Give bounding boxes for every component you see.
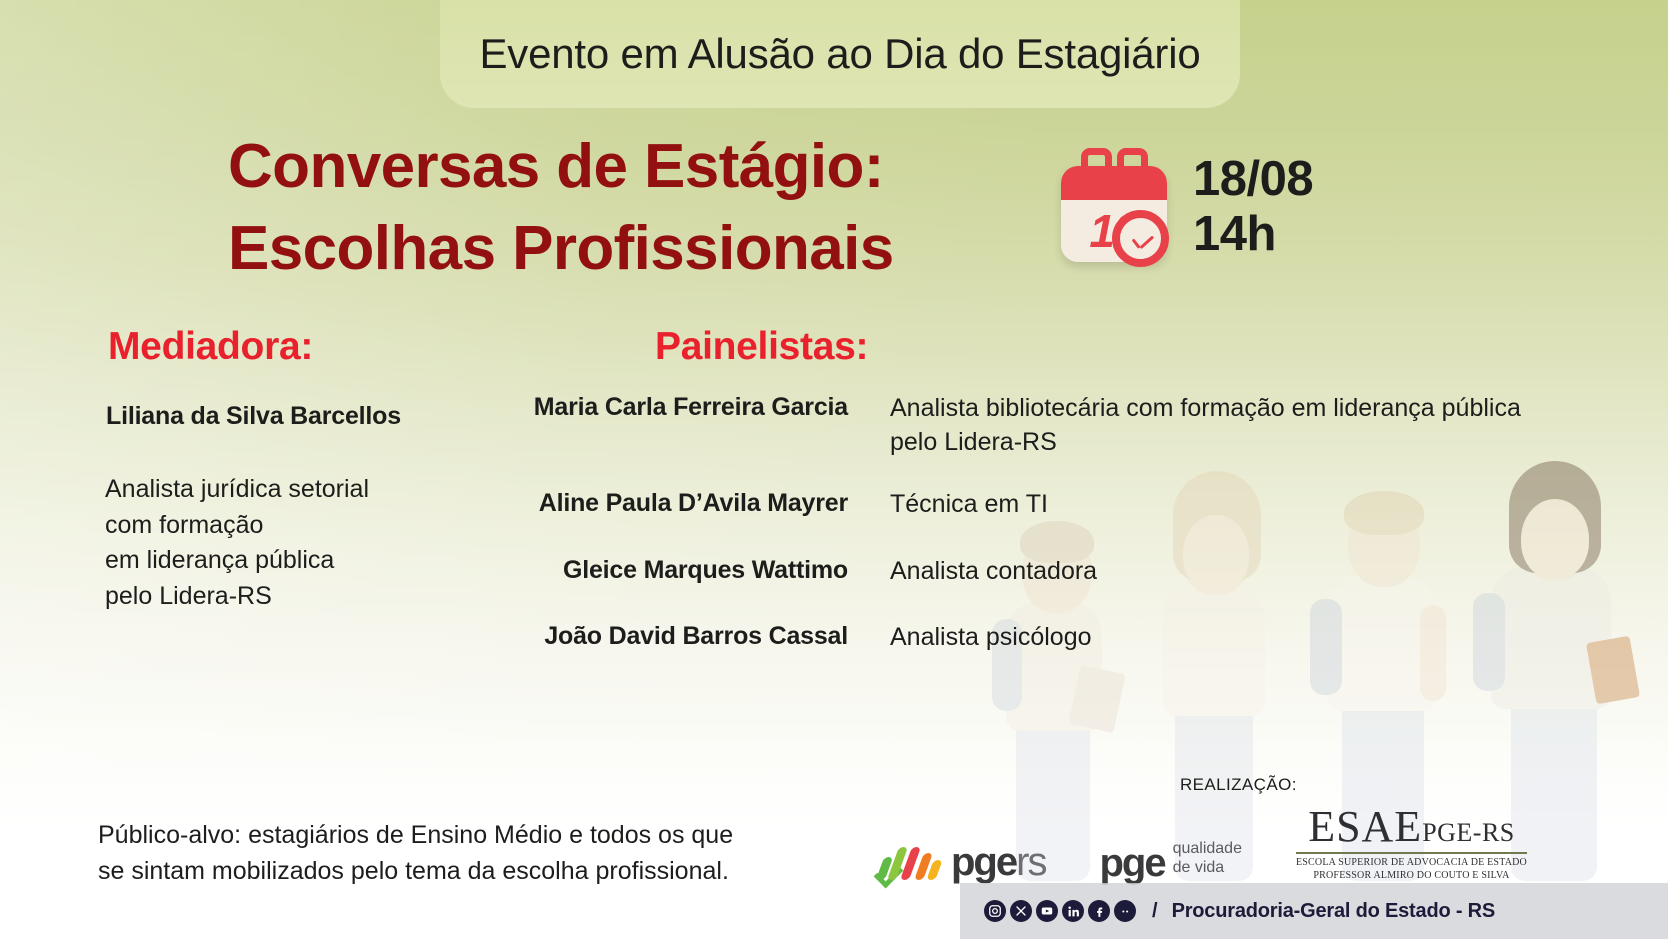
date-text: 18/08 14h <box>1193 152 1313 262</box>
panelist-row: Aline Paula D’Avila Mayrer Técnica em TI <box>470 488 1530 522</box>
mediator-name: Liliana da Silva Barcellos <box>106 402 506 431</box>
date-block: 18 18/08 14h <box>1055 148 1313 266</box>
panelist-row: Maria Carla Ferreira Garcia Analista bib… <box>470 392 1530 460</box>
pge-wordmark: pge <box>1099 844 1164 882</box>
panelists-heading: Painelistas: <box>655 325 868 369</box>
panelist-name: Gleice Marques Wattimo <box>470 555 890 586</box>
pge-sub-line-2: de vida <box>1173 859 1242 878</box>
x-icon[interactable] <box>1010 900 1032 922</box>
page-title: Conversas de Estágio: Escolhas Profissio… <box>228 126 1028 290</box>
esae-subtitle: ESCOLA SUPERIOR DE ADVOCACIA DE ESTADO P… <box>1296 857 1527 882</box>
time-value: 14h <box>1193 207 1313 262</box>
event-poster: Evento em Alusão ao Dia do Estagiário Co… <box>0 0 1668 939</box>
pge-qualidade-sub: qualidade de vida <box>1173 840 1242 882</box>
pgers-light: rs <box>1016 840 1045 884</box>
panelist-role: Analista bibliotecária com formação em l… <box>890 392 1530 460</box>
mediator-role: Analista jurídica setorial com formação … <box>105 472 525 614</box>
pgers-bold: pge <box>951 840 1016 884</box>
pgers-wordmark: pgers <box>951 842 1045 882</box>
calendar-icon: 18 <box>1055 148 1177 266</box>
esae-logo: ESAEPGE-RS ESCOLA SUPERIOR DE ADVOCACIA … <box>1296 805 1527 882</box>
panelists-list: Maria Carla Ferreira Garcia Analista bib… <box>470 392 1530 677</box>
linkedin-icon[interactable] <box>1062 900 1084 922</box>
esae-sub-line-2: PROFESSOR ALMIRO DO COUTO E SILVA <box>1296 870 1527 883</box>
title-line-1: Conversas de Estágio: <box>228 132 884 201</box>
clock-icon <box>1112 210 1169 267</box>
pge-sub-line-1: qualidade <box>1173 840 1242 859</box>
header-ribbon: Evento em Alusão ao Dia do Estagiário <box>440 0 1240 108</box>
panelist-role: Técnica em TI <box>890 488 1530 522</box>
calendar-header-band <box>1061 166 1167 200</box>
pgers-bars-icon <box>880 842 942 882</box>
panelist-role: Analista contadora <box>890 555 1530 589</box>
mediator-heading: Mediadora: <box>108 325 313 369</box>
pge-qualidade-logo: pge qualidade de vida <box>1099 840 1242 882</box>
esae-wordmark: ESAEPGE-RS <box>1296 805 1527 849</box>
panelist-name: Aline Paula D’Avila Mayrer <box>470 488 890 519</box>
title-line-2: Escolhas Profissionais <box>228 208 1028 290</box>
pgers-logo: pgers <box>880 842 1045 882</box>
audience-note: Público-alvo: estagiários de Ensino Médi… <box>98 818 818 889</box>
youtube-icon[interactable] <box>1036 900 1058 922</box>
instagram-icon[interactable] <box>984 900 1006 922</box>
esae-sub-line-1: ESCOLA SUPERIOR DE ADVOCACIA DE ESTADO <box>1296 857 1527 870</box>
logo-row: pgers pge qualidade de vida ESAEPGE-RS E… <box>880 805 1527 882</box>
footer-organization: Procuradoria-Geral do Estado - RS <box>1172 900 1495 923</box>
header-ribbon-text: Evento em Alusão ao Dia do Estagiário <box>479 30 1200 78</box>
panelist-row: Gleice Marques Wattimo Analista contador… <box>470 555 1530 589</box>
panelist-name: João David Barros Cassal <box>470 621 890 652</box>
facebook-icon[interactable] <box>1088 900 1110 922</box>
esae-main-text: ESAE <box>1308 802 1422 851</box>
panelist-role: Analista psicólogo <box>890 621 1530 655</box>
panelist-name: Maria Carla Ferreira Garcia <box>470 392 890 423</box>
esae-suffix: PGE-RS <box>1422 818 1515 847</box>
panelist-row: João David Barros Cassal Analista psicól… <box>470 621 1530 655</box>
date-value: 18/08 <box>1193 152 1313 207</box>
realizacao-label: REALIZAÇÃO: <box>1180 775 1297 795</box>
student-book <box>1586 636 1640 705</box>
student-face <box>1521 499 1589 579</box>
footer-bar: / Procuradoria-Geral do Estado - RS <box>960 883 1668 939</box>
footer-separator: / <box>1152 900 1158 923</box>
threads-icon[interactable] <box>1114 900 1136 922</box>
esae-divider <box>1296 852 1527 854</box>
social-icons-group[interactable] <box>984 900 1136 922</box>
